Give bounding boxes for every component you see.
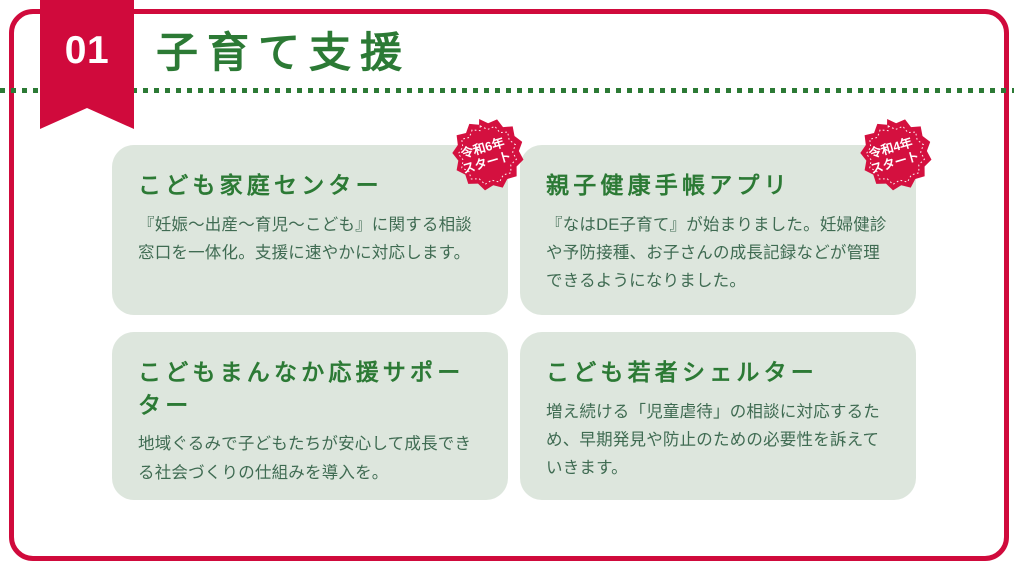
- slide-root: 01 子育て支援 令和6年 スタート こども家庭センター 『妊娠〜出産〜育児〜こ…: [0, 0, 1024, 576]
- section-number-ribbon: 01: [40, 0, 134, 129]
- section-number-label: 01: [65, 31, 109, 70]
- card-title: こども家庭センター: [138, 169, 482, 202]
- card-oyako-kenko-techo-app[interactable]: 令和4年 スタート 親子健康手帳アプリ 『なはDE子育て』が始まりました。妊婦健…: [520, 145, 916, 315]
- card-grid: 令和6年 スタート こども家庭センター 『妊娠〜出産〜育児〜こども』に関する相談…: [112, 145, 916, 500]
- card-kodomo-mannaka-supporter[interactable]: こどもまんなか応援サポーター 地域ぐるみで子どもたちが安心して成長できる社会づく…: [112, 332, 508, 500]
- card-body: 地域ぐるみで子どもたちが安心して成長できる社会づくりの仕組みを導入を。: [138, 430, 482, 487]
- card-body: 増え続ける「児童虐待」の相談に対応するため、早期発見や防止のための必要性を訴えて…: [546, 398, 890, 483]
- card-title: 親子健康手帳アプリ: [546, 169, 890, 202]
- card-title: こども若者シェルター: [546, 356, 890, 389]
- start-year-badge-icon: 令和4年 スタート: [848, 111, 937, 200]
- page-title: 子育て支援: [156, 27, 411, 80]
- card-kodomo-katei-center[interactable]: 令和6年 スタート こども家庭センター 『妊娠〜出産〜育児〜こども』に関する相談…: [112, 145, 508, 315]
- card-kodomo-wakamono-shelter[interactable]: こども若者シェルター 増え続ける「児童虐待」の相談に対応するため、早期発見や防止…: [520, 332, 916, 500]
- card-body: 『妊娠〜出産〜育児〜こども』に関する相談窓口を一体化。支援に速やかに対応します。: [138, 211, 482, 268]
- dotted-divider-line: [0, 88, 1014, 93]
- card-title: こどもまんなか応援サポーター: [138, 356, 482, 421]
- start-year-badge-icon: 令和6年 スタート: [440, 111, 529, 200]
- card-body: 『なはDE子育て』が始まりました。妊婦健診や予防接種、お子さんの成長記録などが管…: [546, 211, 890, 296]
